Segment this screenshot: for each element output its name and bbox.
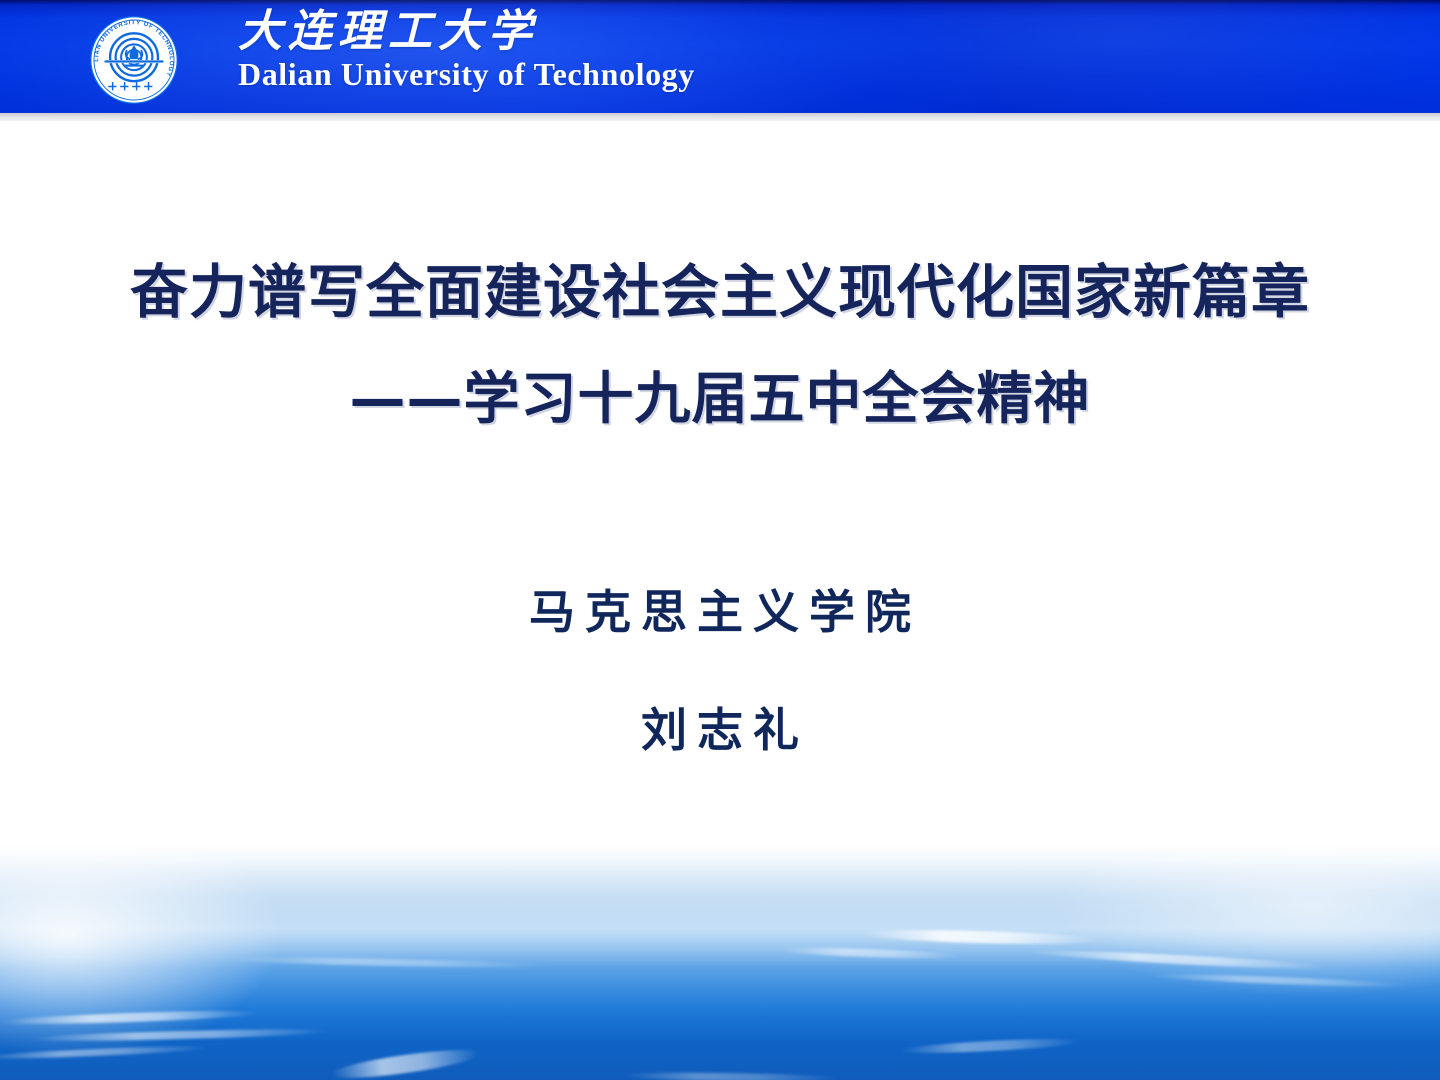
- dalian-university-seal-icon: DALIAN UNIVERSITY OF TECHNOLOGY: [88, 14, 180, 106]
- title-block: 奋力谱写全面建设社会主义现代化国家新篇章 ——学习十九届五中全会精神: [0, 261, 1440, 430]
- header-banner: [0, 0, 1440, 113]
- slide-body: 奋力谱写全面建设社会主义现代化国家新篇章 ——学习十九届五中全会精神 马克思主义…: [0, 121, 1440, 845]
- presenter-name: 刘志礼: [0, 694, 1440, 760]
- cloud-streak: [900, 1036, 1080, 1055]
- university-name-cn: 大连理工大学: [238, 10, 695, 54]
- title-slide: DALIAN UNIVERSITY OF TECHNOLOGY: [0, 0, 1440, 1080]
- cloud-streak: [620, 1071, 840, 1080]
- byline-block: 马克思主义学院 刘志礼: [0, 576, 1440, 760]
- header-divider: [0, 113, 1440, 121]
- slide-subtitle: ——学习十九届五中全会精神: [0, 369, 1440, 431]
- university-name-en: Dalian University of Technology: [238, 58, 695, 90]
- university-wordmark: 大连理工大学 Dalian University of Technology: [238, 10, 695, 90]
- presenter-organization: 马克思主义学院: [0, 576, 1440, 642]
- slide-title: 奋力谱写全面建设社会主义现代化国家新篇章: [0, 261, 1440, 325]
- sky-and-ocean-photo: [0, 845, 1440, 1080]
